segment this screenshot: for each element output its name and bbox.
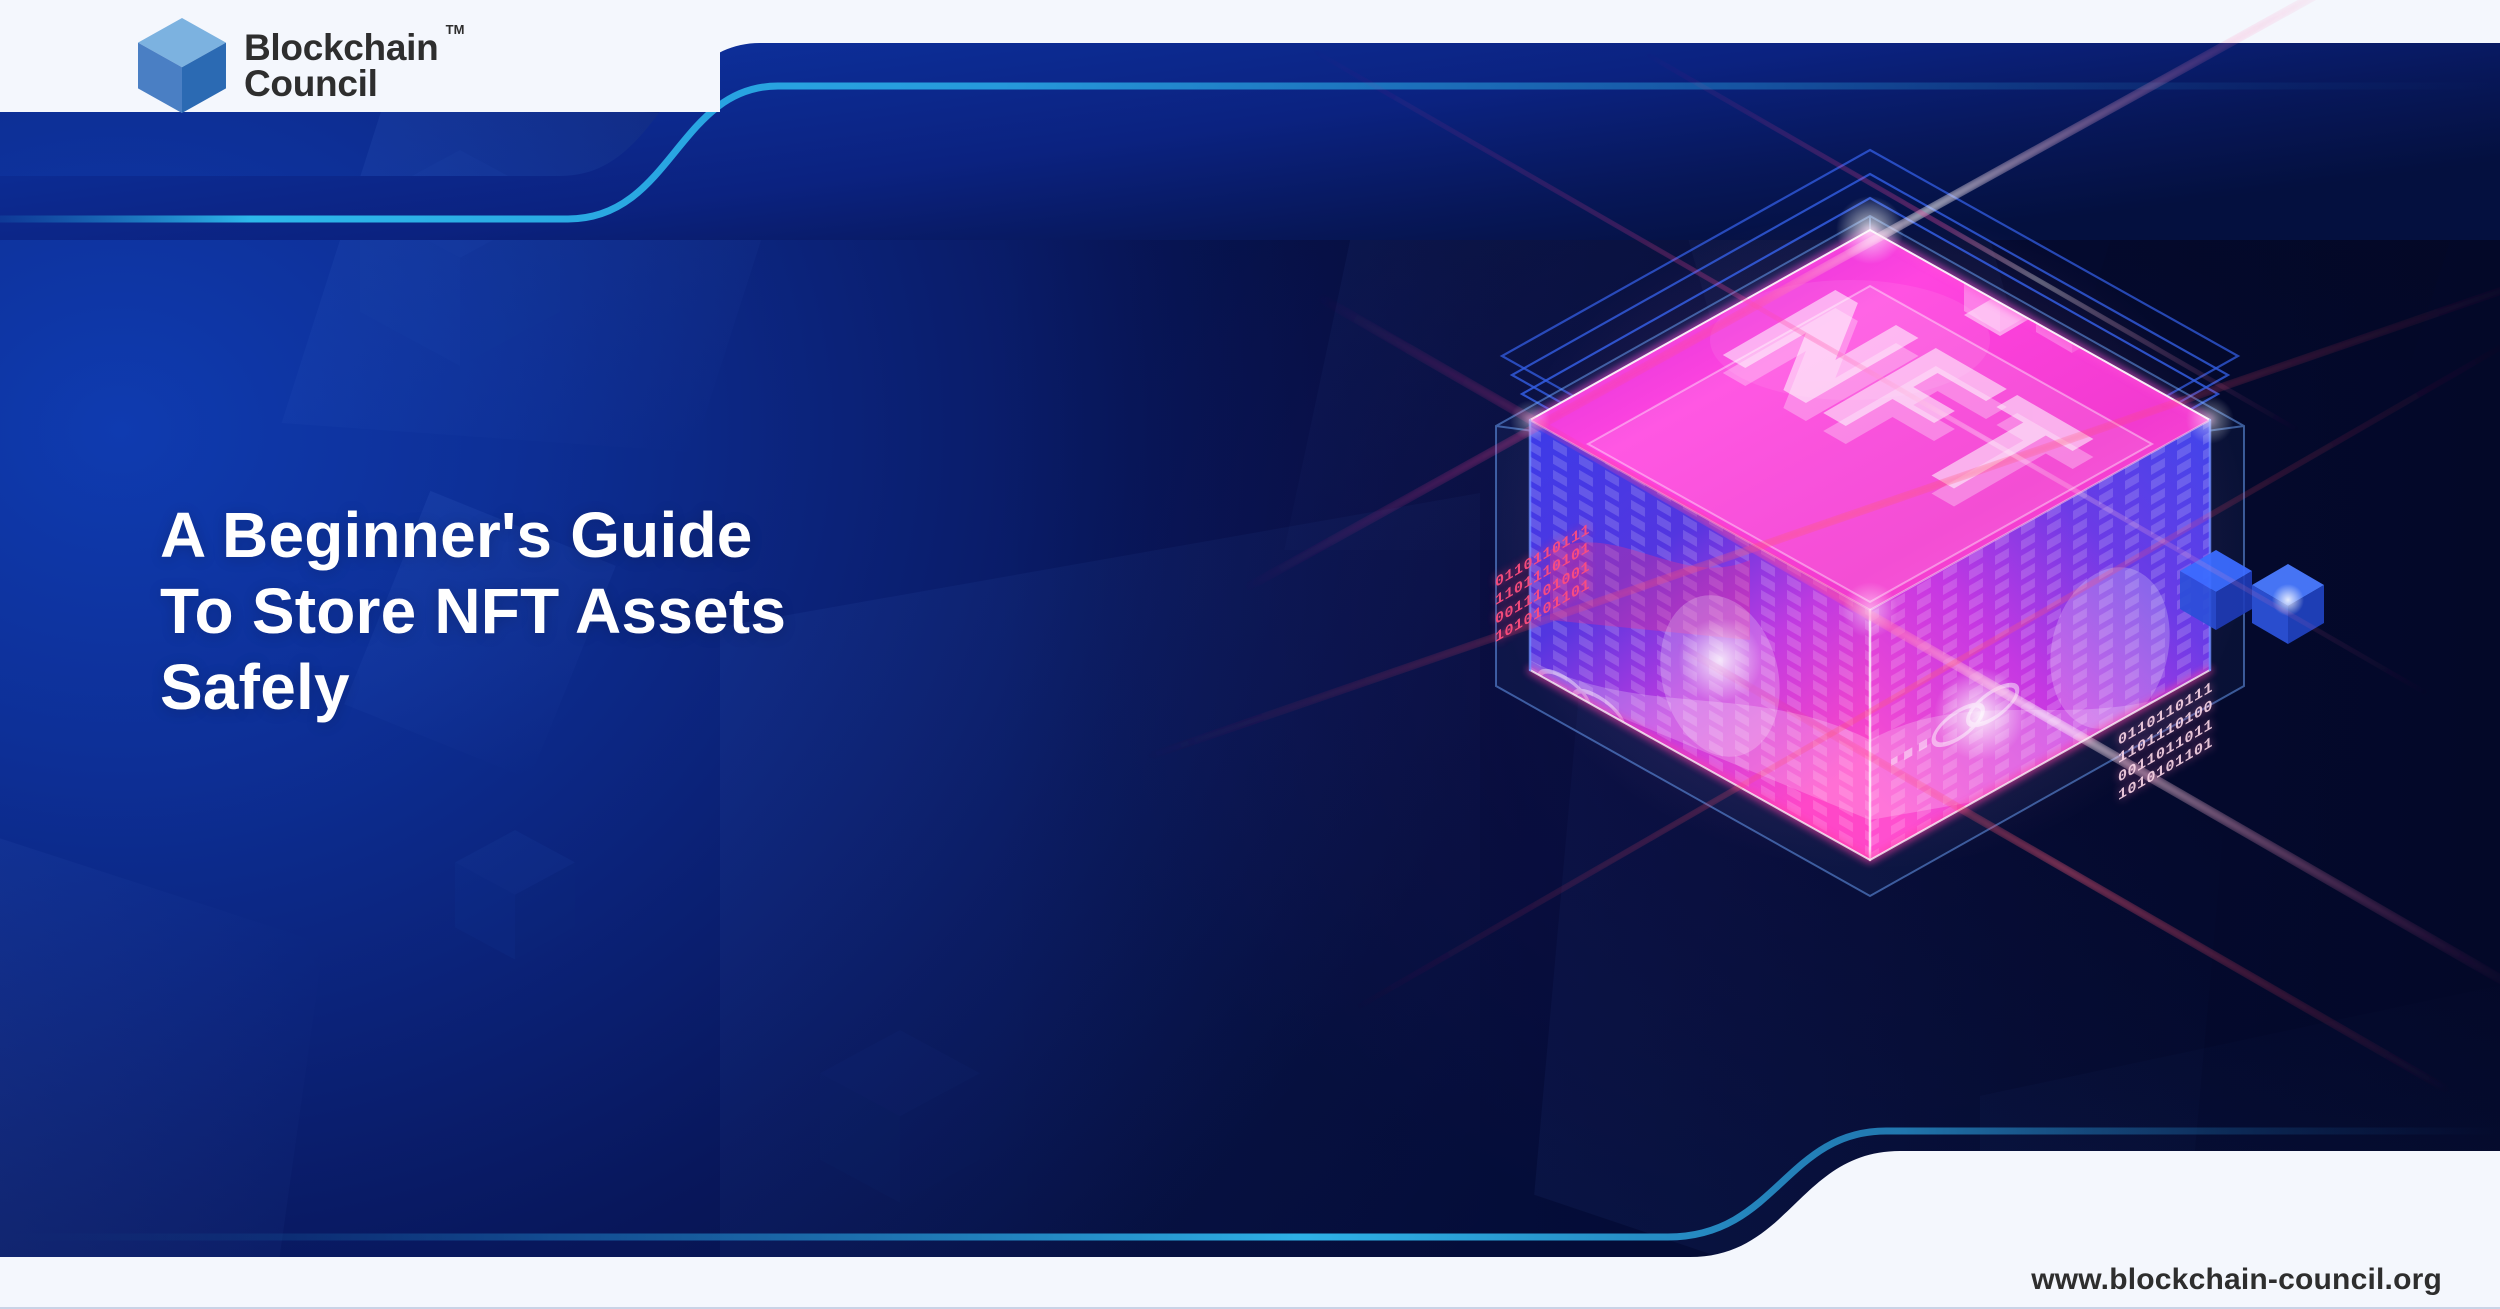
banner-root: 0110110111 1101110101 0011101001 1010101… [0, 0, 2500, 1309]
brand-wordmark: Blockchain Council TM [244, 30, 438, 102]
background-ghost-cube-icon [455, 830, 575, 958]
footer-website-link[interactable]: www.blockchain-council.org [2031, 1263, 2442, 1297]
title-line-3: Safely [160, 649, 1280, 725]
trademark-symbol: TM [446, 24, 465, 37]
nft-cube-artwork [1420, 120, 2320, 940]
brand-name-line1: Blockchain [244, 30, 438, 66]
page-title: A Beginner's Guide To Store NFT Assets S… [160, 497, 1280, 725]
blockchain-cube-icon [138, 18, 226, 114]
title-line-2: To Store NFT Assets [160, 573, 1280, 649]
brand-logo[interactable]: Blockchain Council TM [138, 18, 438, 114]
title-line-1: A Beginner's Guide [160, 497, 1280, 573]
brand-name-line2: Council [244, 66, 438, 102]
